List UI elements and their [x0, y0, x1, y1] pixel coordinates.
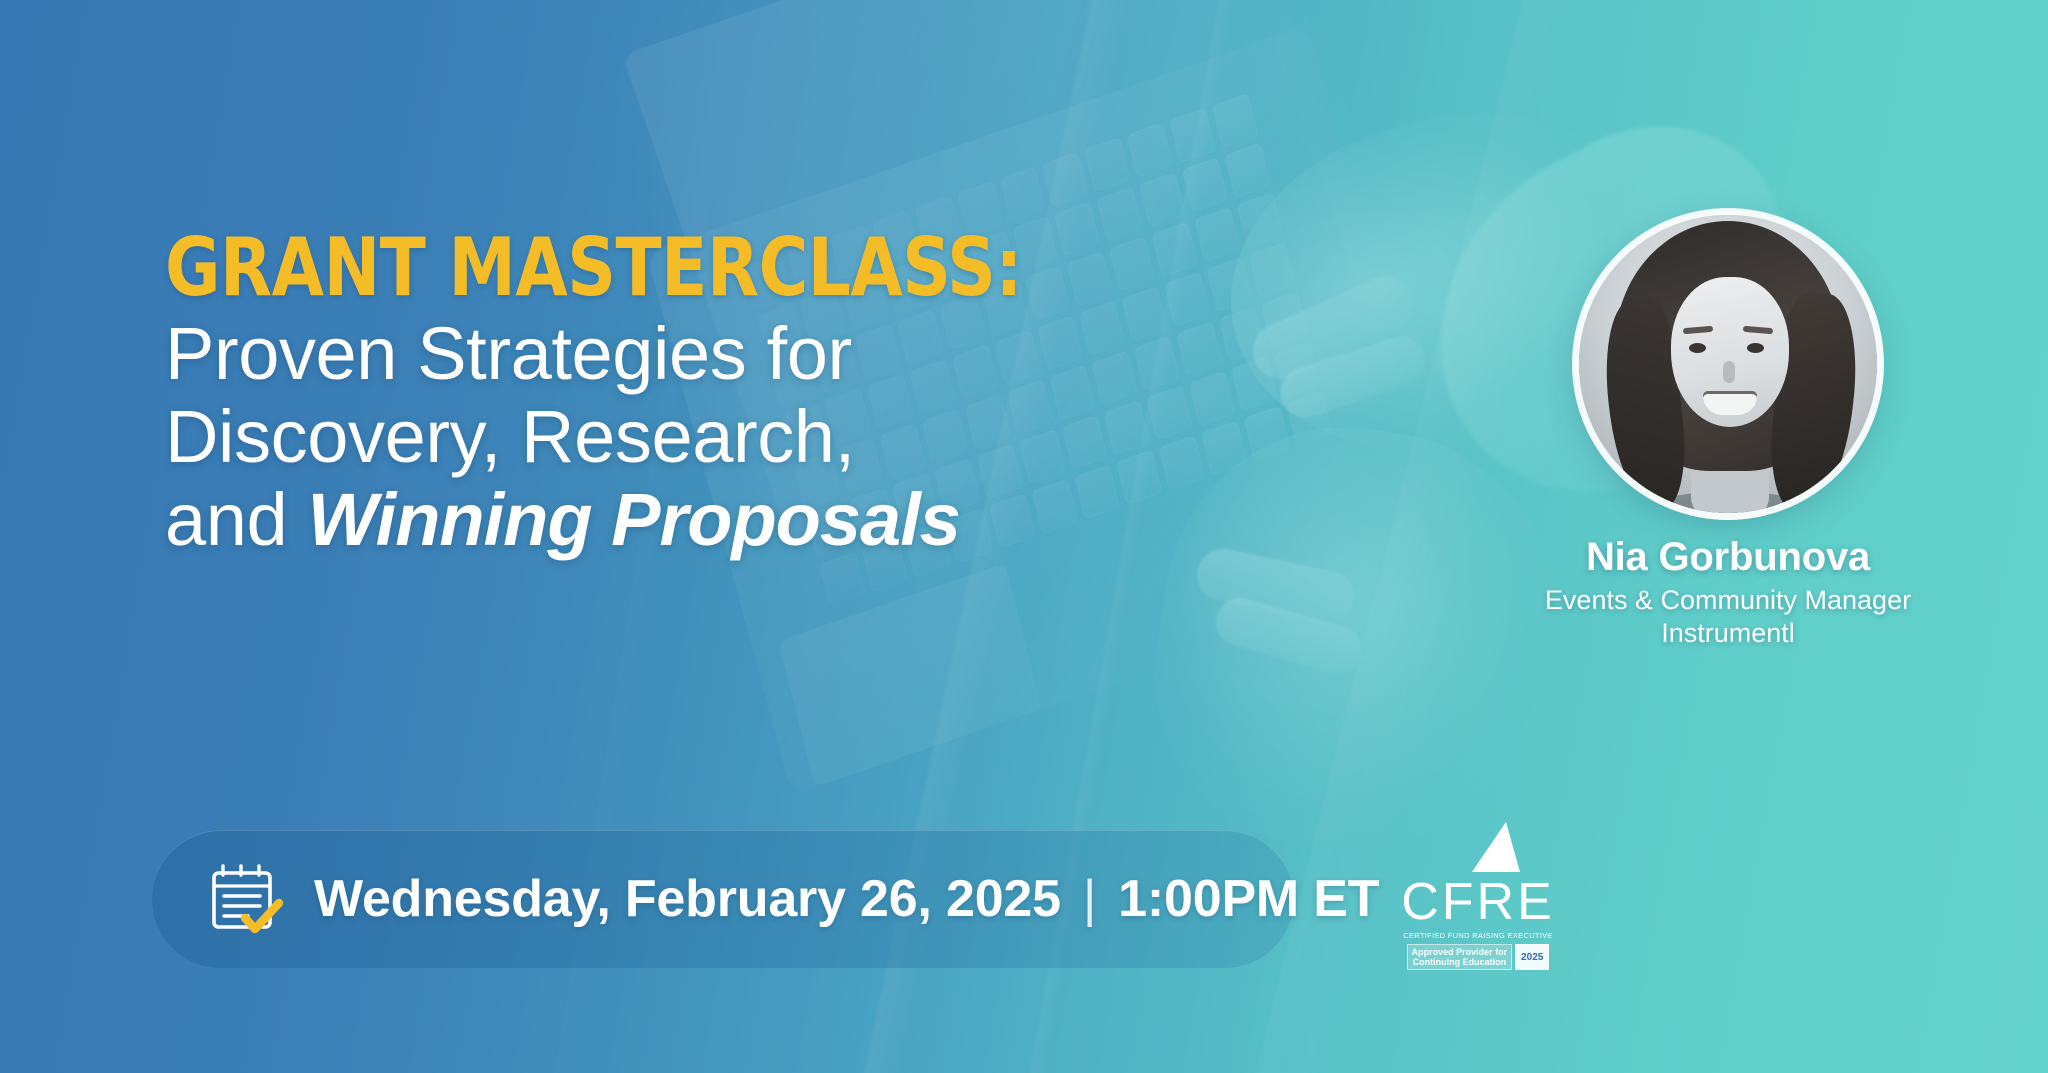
subtitle-line-3: and Winning Proposals: [165, 479, 1285, 562]
schedule-pill: Wednesday, February 26, 2025 | 1:00PM ET: [152, 830, 1294, 968]
portrait-eye-left: [1689, 343, 1706, 353]
schedule-date: Wednesday, February 26, 2025: [314, 869, 1061, 929]
subtitle-line-1: Proven Strategies for: [165, 313, 1285, 396]
calendar-check-icon: [210, 863, 284, 935]
cfre-provider-line-1: Approved Provider for: [1412, 947, 1508, 957]
schedule-separator: |: [1083, 869, 1096, 929]
portrait-eye-right: [1747, 343, 1764, 353]
headline-block: GRANT MASTERCLASS: Proven Strategies for…: [165, 230, 1285, 561]
speaker-portrait: [1579, 215, 1877, 513]
cfre-tagline: CERTIFIED FUND RAISING EXECUTIVE: [1388, 931, 1568, 940]
cfre-provider-text: Approved Provider for Continuing Educati…: [1407, 944, 1513, 970]
subtitle-line-2: Discovery, Research,: [165, 396, 1285, 479]
speaker-organization: Instrumentl: [1538, 617, 1918, 650]
cfre-triangle-icon: [1388, 822, 1568, 874]
portrait-nose: [1723, 361, 1735, 383]
cfre-provider-badge: Approved Provider for Continuing Educati…: [1388, 944, 1568, 970]
cfre-provider-line-2: Continuing Education: [1412, 957, 1508, 967]
page-subtitle: Proven Strategies for Discovery, Researc…: [165, 313, 1285, 562]
webinar-promo-banner: GRANT MASTERCLASS: Proven Strategies for…: [0, 0, 2048, 1073]
cfre-provider-year: 2025: [1515, 944, 1549, 970]
schedule-time: 1:00PM ET: [1118, 869, 1379, 929]
speaker-block: Nia Gorbunova Events & Community Manager…: [1538, 215, 1918, 650]
schedule-text: Wednesday, February 26, 2025 | 1:00PM ET: [314, 869, 1379, 929]
avatar: [1579, 215, 1877, 513]
cfre-wordmark: CFRE: [1388, 876, 1568, 928]
subtitle-line-3-emphasis: Winning Proposals: [307, 478, 959, 561]
cfre-accreditation-logo: CFRE CERTIFIED FUND RAISING EXECUTIVE Ap…: [1388, 822, 1568, 970]
speaker-name: Nia Gorbunova: [1538, 535, 1918, 580]
page-title-kicker: GRANT MASTERCLASS:: [165, 230, 1218, 307]
banner-content: GRANT MASTERCLASS: Proven Strategies for…: [0, 0, 2048, 1073]
portrait-smile: [1703, 391, 1757, 415]
speaker-role: Events & Community Manager: [1538, 584, 1918, 617]
subtitle-line-3-prefix: and: [165, 478, 307, 561]
